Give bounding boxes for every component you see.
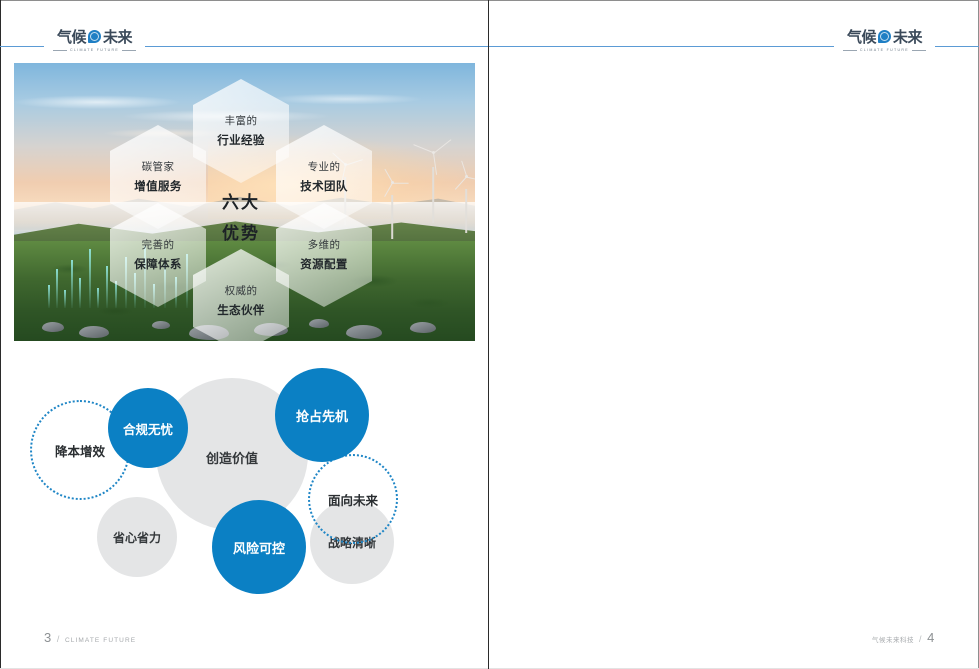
hexagon-center-line1: 六大 (222, 188, 260, 213)
page-number: 3 (44, 630, 52, 645)
page-left-edge (0, 0, 1, 669)
bubble-label: 降本增效 (55, 441, 105, 460)
brand-logo-subtitle-text: CLIMATE FUTURE (860, 48, 909, 52)
hexagon-cluster: 丰富的 行业经验 专业的 技术团队 多维的 资源配置 权威的 生态伙伴 (14, 63, 475, 341)
bubble-label: 面向未来 (328, 490, 378, 509)
brochure-spread: 气候 未来 CLIMATE FUTURE (0, 0, 979, 669)
footer-label: CLIMATE FUTURE (65, 637, 136, 644)
hero-image: 丰富的 行业经验 专业的 技术团队 多维的 资源配置 权威的 生态伙伴 (14, 63, 475, 341)
bubble-label: 合规无忧 (123, 419, 173, 438)
hexagon-center-label: 六大 优势 (193, 164, 289, 268)
page-left-header: 气候 未来 CLIMATE FUTURE (0, 34, 488, 60)
brand-logo-subtitle-text: CLIMATE FUTURE (70, 48, 119, 52)
footer-label: 气候未来科技 (872, 634, 914, 644)
bubble-label: 创造价值 (206, 448, 258, 467)
hexagon-line1: 多维的 (308, 240, 341, 251)
brand-logo-text-left: 气候 (847, 26, 876, 47)
bubble-save-effort[interactable]: 省心省力 (97, 497, 177, 577)
footer-slash: / (919, 634, 922, 644)
brand-logo-text-right: 未来 (893, 26, 922, 47)
hexagon-line2: 增值服务 (134, 181, 182, 193)
page-number: 4 (927, 630, 935, 645)
hexagon-line2: 技术团队 (300, 181, 348, 193)
bubble-label: 风险可控 (233, 538, 285, 557)
brand-logo: 气候 未来 CLIMATE FUTURE (44, 26, 145, 52)
brand-logo: 气候 未来 CLIMATE FUTURE (834, 26, 935, 52)
leaf-icon (88, 30, 101, 43)
brand-logo-text-right: 未来 (103, 26, 132, 47)
hexagon-item[interactable]: 碳管家 增值服务 (110, 125, 206, 229)
hexagon-line1: 专业的 (308, 162, 341, 173)
hexagon-line1: 权威的 (225, 286, 258, 297)
value-bubble-diagram: 创造价值 省心省力 战略清晰 降本增效 面向未来 合规无忧 抢占先机 风险可控 (14, 360, 475, 610)
bubble-compliance[interactable]: 合规无忧 (108, 388, 188, 468)
bubble-label: 省心省力 (113, 529, 161, 546)
hexagon-line2: 生态伙伴 (217, 305, 265, 317)
hexagon-line1: 完善的 (142, 240, 175, 251)
hexagon-line2: 行业经验 (217, 135, 265, 147)
brand-logo-subtitle: CLIMATE FUTURE (53, 48, 136, 52)
footer-left: 3 / CLIMATE FUTURE (44, 630, 136, 645)
brand-logo-mark-row: 气候 未来 (57, 26, 132, 47)
footer-slash: / (57, 634, 60, 644)
bubble-risk-control[interactable]: 风险可控 (212, 500, 306, 594)
bubble-label: 抢占先机 (296, 406, 348, 425)
hexagon-line2: 保障体系 (134, 259, 182, 271)
page-right: 气候 未来 CLIMATE FUTURE COMPANY FOUNDER 公司创… (489, 0, 979, 669)
hexagon-line1: 丰富的 (225, 116, 258, 127)
leaf-icon (878, 30, 891, 43)
bubble-first-mover[interactable]: 抢占先机 (275, 368, 369, 462)
footer-right: 气候未来科技 / 4 (872, 630, 935, 645)
brand-logo-mark-row: 气候 未来 (847, 26, 922, 47)
brand-logo-subtitle: CLIMATE FUTURE (843, 48, 926, 52)
hexagon-center-line2: 优势 (222, 219, 260, 244)
hexagon-item[interactable]: 多维的 资源配置 (276, 203, 372, 307)
hexagon-line2: 资源配置 (300, 259, 348, 271)
brand-logo-text-left: 气候 (57, 26, 86, 47)
page-right-header: 气候 未来 CLIMATE FUTURE (489, 34, 979, 60)
page-left: 气候 未来 CLIMATE FUTURE (0, 0, 489, 669)
bubble-future-oriented[interactable]: 面向未来 (308, 454, 398, 544)
hexagon-line1: 碳管家 (142, 162, 175, 173)
